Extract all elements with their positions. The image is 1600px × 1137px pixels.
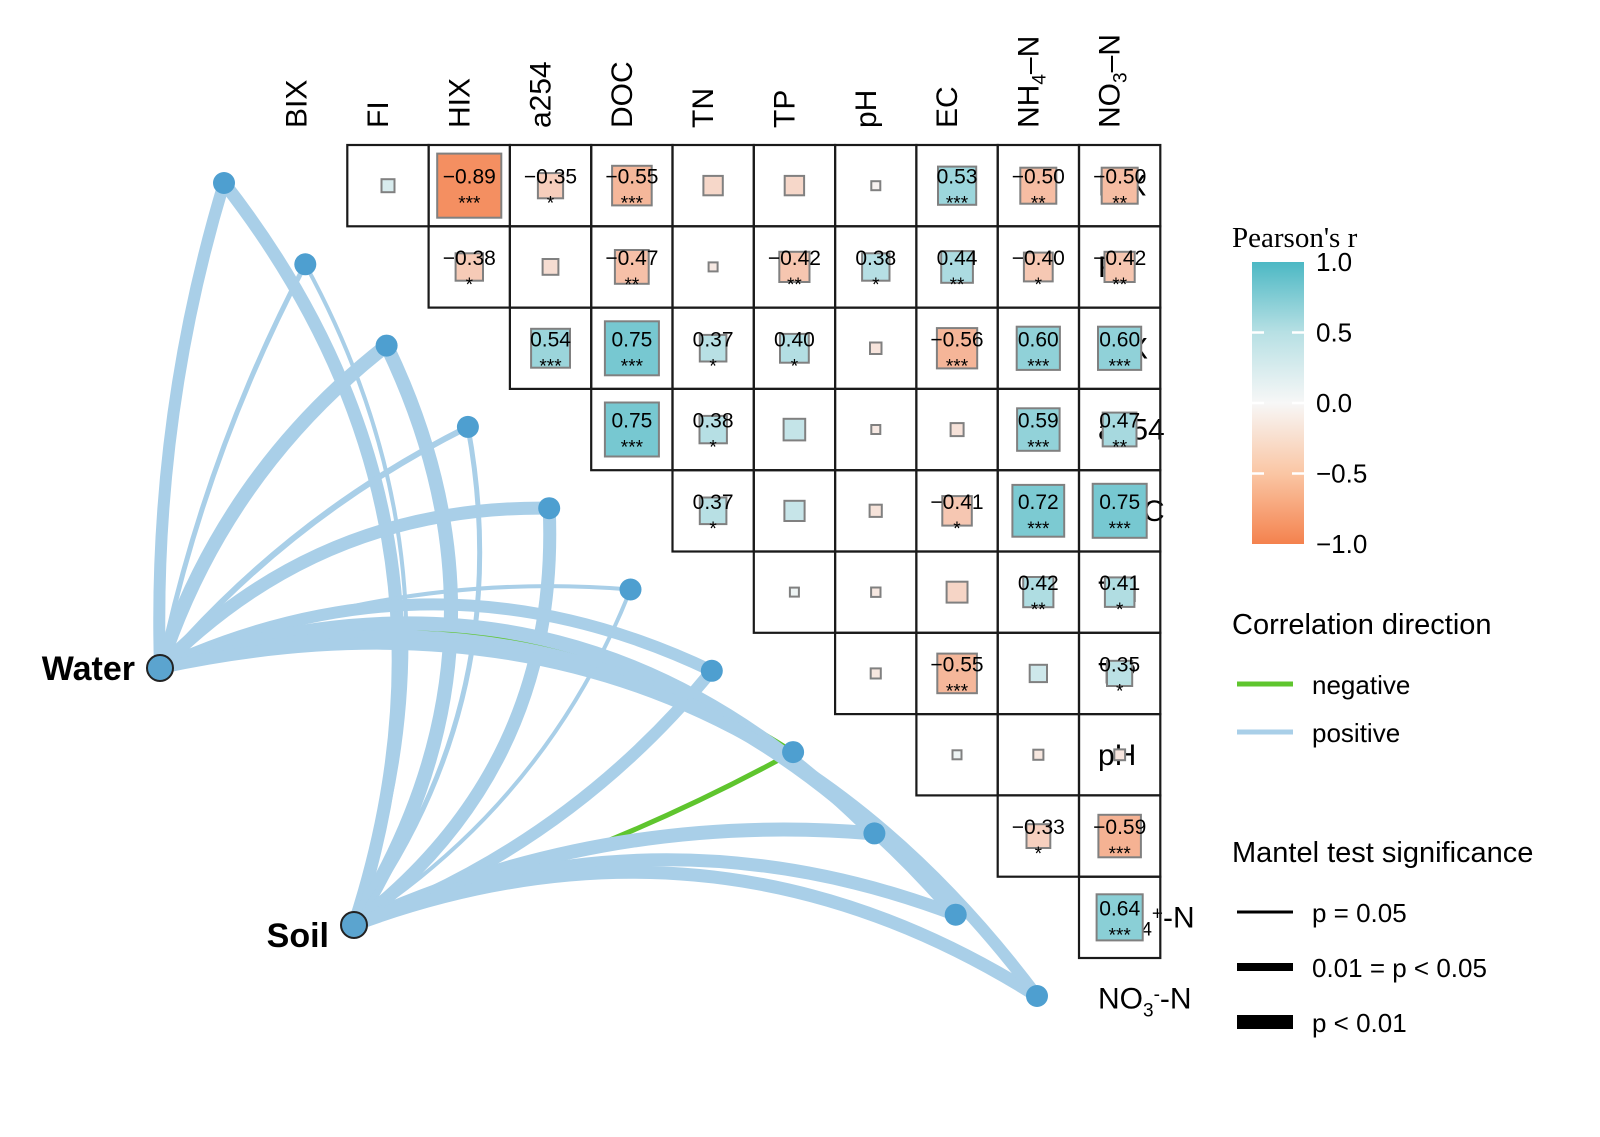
direction-legend-label-negative: negative: [1312, 670, 1410, 700]
mantel-legend-label: p = 0.05: [1312, 898, 1407, 928]
mantel-legend-title: Mantel test significance: [1232, 837, 1533, 869]
mantel-legend-items: p = 0.050.01 = p < 0.05p < 0.01: [1237, 898, 1487, 1038]
colorbar-tick-label: −1.0: [1316, 529, 1367, 559]
direction-legend-title: Correlation direction: [1232, 609, 1492, 641]
colorbar-tick-label: 1.0: [1316, 247, 1352, 277]
colorbar-tick-label: −0.5: [1316, 459, 1367, 489]
colorbar-tick-label: 0.5: [1316, 318, 1352, 348]
mantel-legend-label: 0.01 = p < 0.05: [1312, 953, 1487, 983]
legend-panel: Pearson's r 1.00.50.0−0.5−1.0 Correlatio…: [0, 0, 1600, 1137]
colorbar-tick-label: 0.0: [1316, 388, 1352, 418]
mantel-legend-label: p < 0.01: [1312, 1008, 1407, 1038]
figure-root: WaterSoil BIXFIHIXa254DOCTNTPpHECNH4–NNO…: [0, 0, 1600, 1137]
direction-legend-label-positive: positive: [1312, 718, 1400, 748]
direction-legend-items: negativepositive: [1237, 670, 1410, 748]
